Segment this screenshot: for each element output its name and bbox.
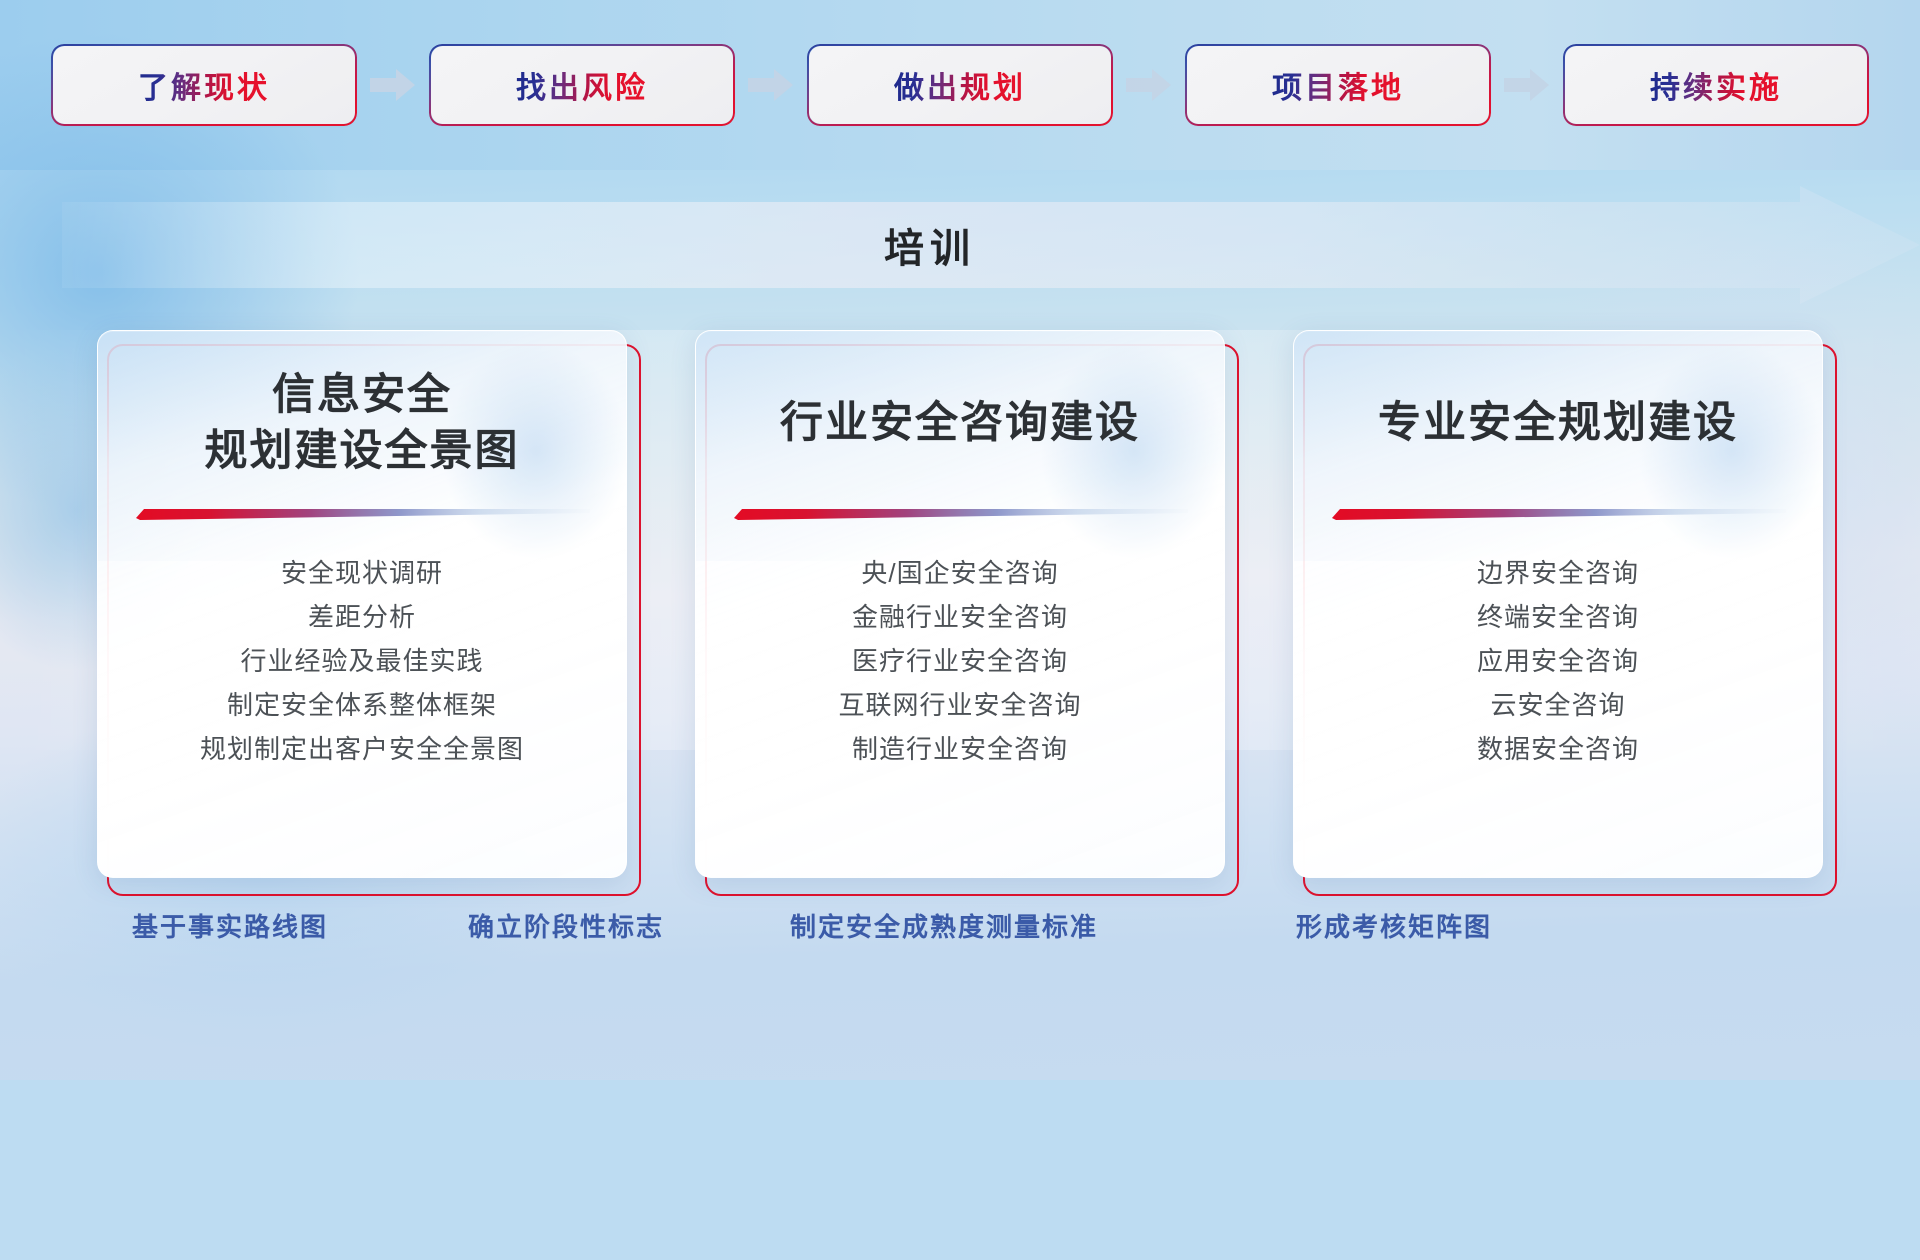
list-item: 行业经验及最佳实践 <box>124 639 600 683</box>
list-item: 互联网行业安全咨询 <box>722 683 1198 727</box>
step-button-2[interactable]: 找出风险 <box>431 46 733 124</box>
arrow-right-icon <box>1504 68 1550 102</box>
list-item: 边界安全咨询 <box>1320 551 1796 595</box>
gradient-divider-icon <box>1330 505 1786 521</box>
list-item: 安全现状调研 <box>124 551 600 595</box>
list-item: 终端安全咨询 <box>1320 595 1796 639</box>
arrow-right-icon <box>370 68 416 102</box>
step-label: 做出规划 <box>894 63 1026 107</box>
card-wrapper-3: 专业安全规划建设 <box>1293 330 1823 878</box>
list-item: 制造行业安全咨询 <box>722 727 1198 771</box>
card-wrapper-1: 信息安全 规划建设全景图 <box>97 330 627 878</box>
arrow-right-icon <box>748 68 794 102</box>
arrow-right-icon <box>1126 68 1172 102</box>
card-item-list: 边界安全咨询 终端安全咨询 应用安全咨询 云安全咨询 数据安全咨询 <box>1320 551 1796 771</box>
list-item: 数据安全咨询 <box>1320 727 1796 771</box>
card-title: 信息安全 规划建设全景图 <box>205 365 520 483</box>
card-title: 专业安全规划建设 <box>1378 365 1738 483</box>
step-label: 项目落地 <box>1272 63 1404 107</box>
training-banner: 培训 <box>0 186 1920 304</box>
bottom-label-1: 基于事实路线图 <box>132 905 328 949</box>
step-button-1[interactable]: 了解现状 <box>53 46 355 124</box>
card-wrapper-2: 行业安全咨询建设 <box>695 330 1225 878</box>
card-3[interactable]: 专业安全规划建设 <box>1293 330 1823 878</box>
card-item-list: 央/国企安全咨询 金融行业安全咨询 医疗行业安全咨询 互联网行业安全咨询 制造行… <box>722 551 1198 771</box>
list-item: 医疗行业安全咨询 <box>722 639 1198 683</box>
cards-row: 信息安全 规划建设全景图 <box>0 330 1920 890</box>
card-2[interactable]: 行业安全咨询建设 <box>695 330 1225 878</box>
step-button-3[interactable]: 做出规划 <box>809 46 1111 124</box>
card-item-list: 安全现状调研 差距分析 行业经验及最佳实践 制定安全体系整体框架 规划制定出客户… <box>124 551 600 771</box>
step-label: 了解现状 <box>138 63 270 107</box>
step-label: 找出风险 <box>516 63 648 107</box>
card-1[interactable]: 信息安全 规划建设全景图 <box>97 330 627 878</box>
bottom-labels-row: 基于事实路线图 确立阶段性标志 制定安全成熟度测量标准 形成考核矩阵图 <box>0 905 1920 969</box>
list-item: 规划制定出客户安全全景图 <box>124 727 600 771</box>
card-title: 行业安全咨询建设 <box>780 365 1140 483</box>
list-item: 金融行业安全咨询 <box>722 595 1198 639</box>
step-button-4[interactable]: 项目落地 <box>1187 46 1489 124</box>
bottom-label-4: 形成考核矩阵图 <box>1296 905 1492 949</box>
bottom-label-3: 制定安全成熟度测量标准 <box>790 905 1098 949</box>
bottom-label-2: 确立阶段性标志 <box>468 905 664 949</box>
step-label: 持续实施 <box>1650 63 1782 107</box>
step-button-5[interactable]: 持续实施 <box>1565 46 1867 124</box>
gradient-divider-icon <box>134 505 590 521</box>
process-step-bar: 了解现状 找出风险 做出规划 项目落地 持续实施 <box>0 0 1920 170</box>
list-item: 云安全咨询 <box>1320 683 1796 727</box>
list-item: 央/国企安全咨询 <box>722 551 1198 595</box>
gradient-divider-icon <box>732 505 1188 521</box>
training-label: 培训 <box>0 186 1920 304</box>
list-item: 差距分析 <box>124 595 600 639</box>
list-item: 制定安全体系整体框架 <box>124 683 600 727</box>
list-item: 应用安全咨询 <box>1320 639 1796 683</box>
